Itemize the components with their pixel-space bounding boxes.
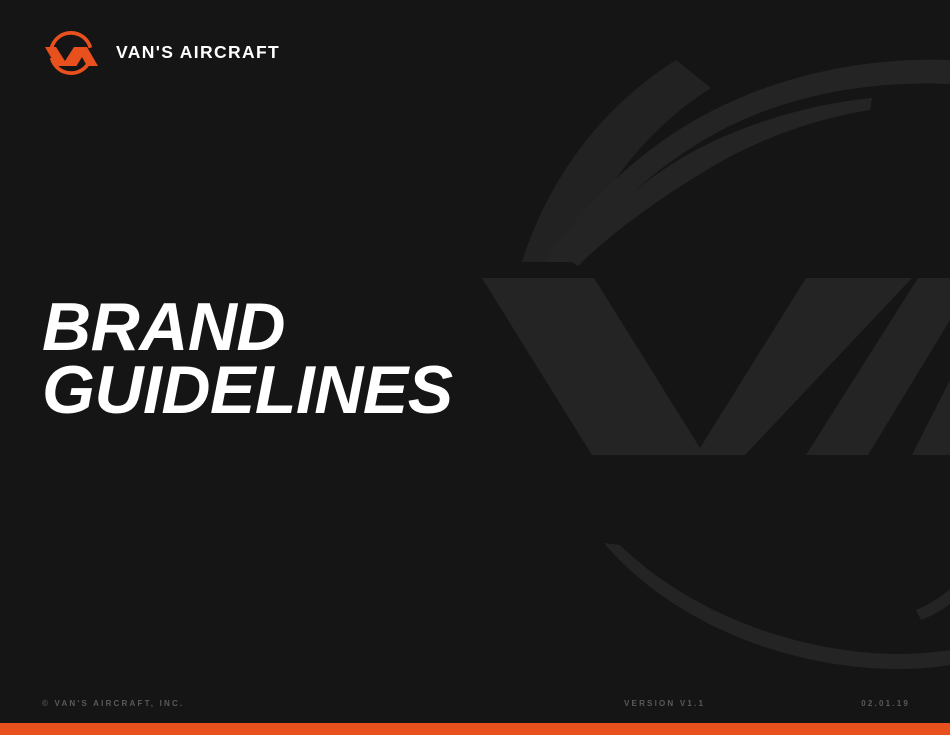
accent-bar xyxy=(0,723,950,735)
page-title-line-2: GUIDELINES xyxy=(42,359,602,422)
footer-copyright: © VAN'S AIRCRAFT, INC. xyxy=(42,697,184,711)
page-title: BRAND GUIDELINES xyxy=(42,296,602,422)
logo-wordmark: VAN'S AIRCRAFT xyxy=(116,44,280,62)
footer: © VAN'S AIRCRAFT, INC. VERSION V1.1 02.0… xyxy=(0,697,950,711)
vans-aircraft-logo-icon xyxy=(38,28,104,78)
brand-guidelines-cover: VAN'S AIRCRAFT BRAND GUIDELINES © VAN'S … xyxy=(0,0,950,735)
footer-version: VERSION V1.1 xyxy=(624,697,705,711)
logo-lockup[interactable]: VAN'S AIRCRAFT xyxy=(38,28,280,78)
page-title-line-1: BRAND xyxy=(42,296,602,359)
footer-date: 02.01.19 xyxy=(861,697,910,711)
